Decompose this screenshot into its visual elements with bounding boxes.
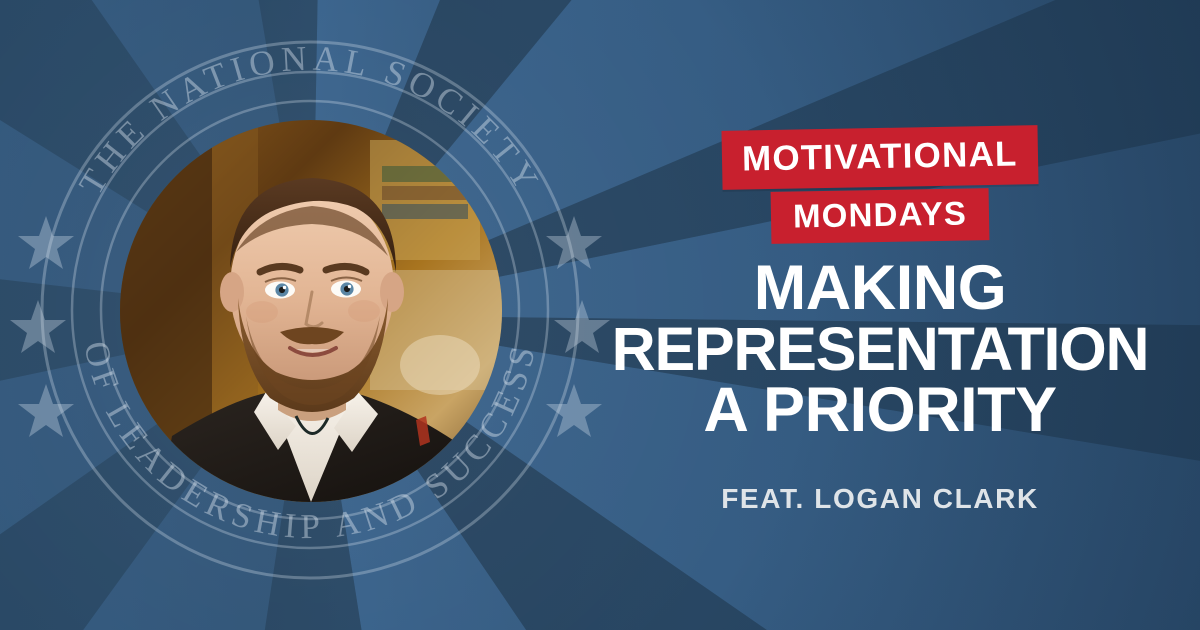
content-column: MOTIVATIONAL MONDAYS MAKING REPRESENTATI… bbox=[560, 0, 1200, 630]
speaker-portrait bbox=[120, 120, 502, 502]
series-badges: MOTIVATIONAL MONDAYS bbox=[560, 128, 1200, 242]
page-title: MAKING REPRESENTATION A PRIORITY bbox=[560, 258, 1200, 441]
seal-stars-left bbox=[10, 216, 74, 437]
headline-line-3: A PRIORITY bbox=[560, 380, 1200, 442]
promo-card: THE NATIONAL SOCIETY OF LEADERSHIP AND S… bbox=[0, 0, 1200, 630]
headline-line-2: REPRESENTATION bbox=[560, 320, 1200, 380]
headline-line-1: MAKING bbox=[560, 258, 1200, 320]
badge-mondays: MONDAYS bbox=[771, 188, 990, 244]
feature-credit: FEAT. LOGAN CLARK bbox=[560, 483, 1200, 515]
badge-motivational: MOTIVATIONAL bbox=[722, 125, 1039, 190]
